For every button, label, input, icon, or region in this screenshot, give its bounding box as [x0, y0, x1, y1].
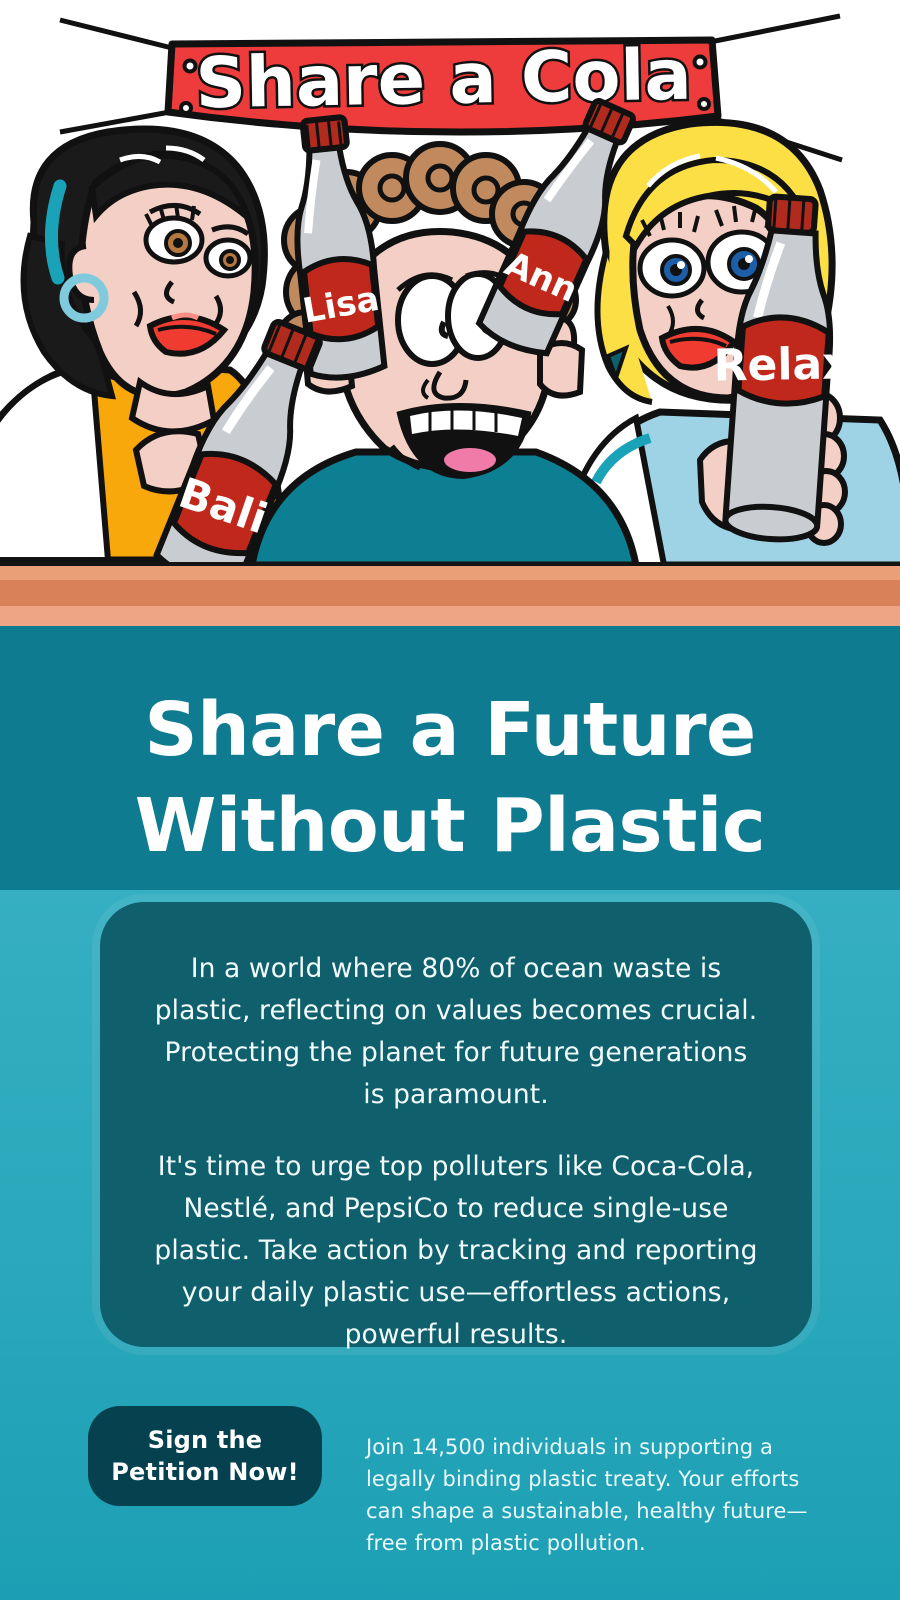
poster-page: Share a Cola — [0, 0, 900, 1600]
sign-petition-button[interactable]: Sign the Petition Now! — [88, 1406, 322, 1506]
page-title-line-2: Without Plastic — [0, 778, 900, 874]
cta-row: Sign the Petition Now! Join 14,500 indiv… — [88, 1406, 828, 1580]
page-title-line-1: Share a Future — [0, 682, 900, 778]
card-paragraph-2: It's time to urge top polluters like Coc… — [152, 1146, 760, 1356]
message-card: In a world where 80% of ocean waste is p… — [100, 902, 812, 1347]
card-paragraph-1: In a world where 80% of ocean waste is p… — [152, 948, 760, 1116]
divider-band-dark — [0, 580, 900, 606]
sign-petition-button-line-2: Petition Now! — [111, 1456, 299, 1488]
cta-supporting-note: Join 14,500 individuals in supporting a … — [366, 1427, 828, 1559]
bottle-label-relax-text: Relax — [713, 338, 851, 391]
page-title: Share a Future Without Plastic — [0, 682, 900, 874]
sign-petition-button-line-1: Sign the — [148, 1424, 263, 1456]
hero-illustration: Share a Cola — [0, 0, 900, 565]
divider-band-light-top — [0, 566, 900, 580]
divider-band-light-bottom — [0, 606, 900, 626]
